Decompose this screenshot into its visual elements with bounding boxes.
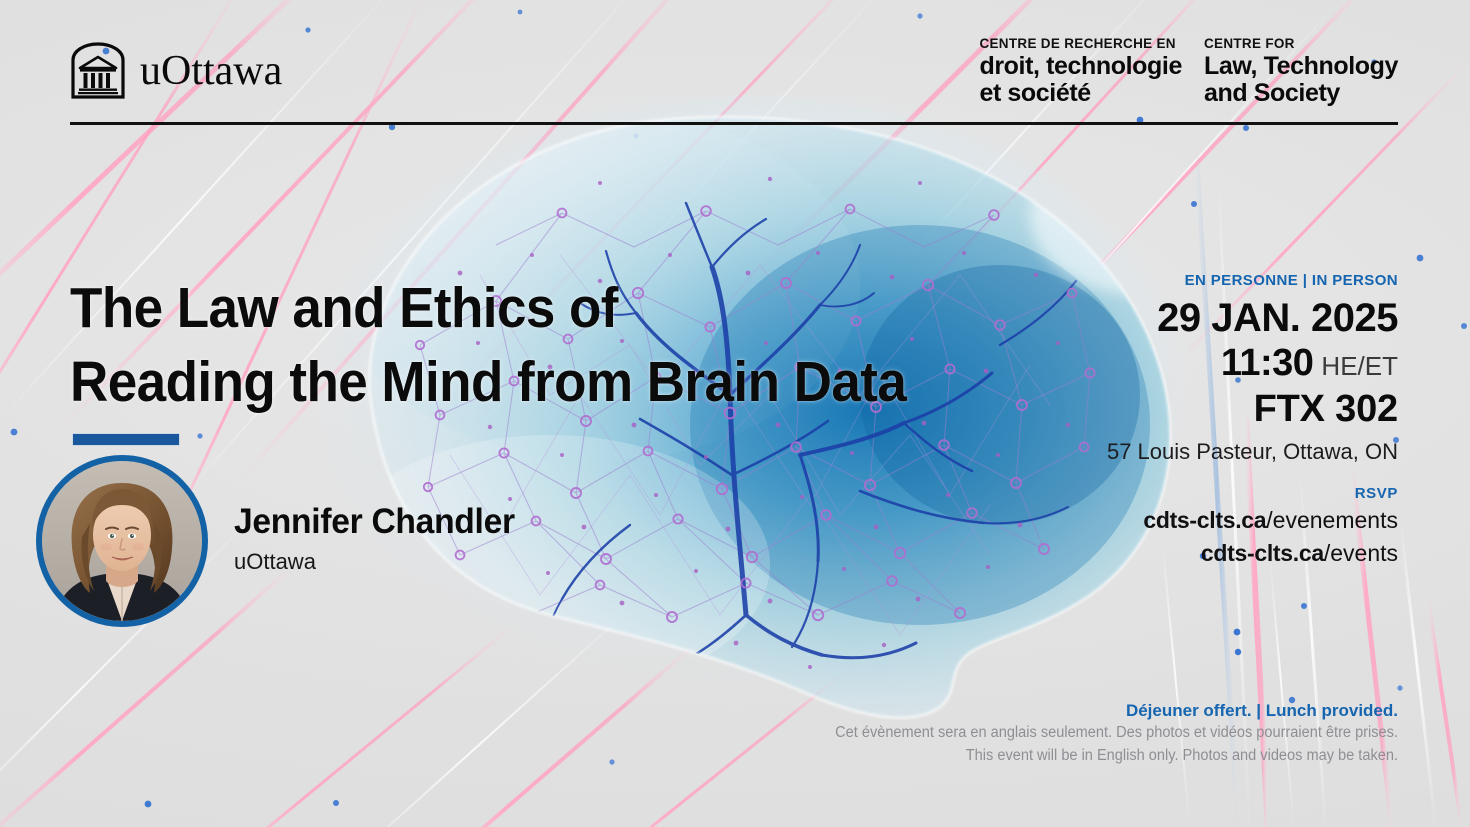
centre-en: CENTRE FOR Law, Technology and Society	[1204, 36, 1398, 106]
centre-en-name-line1: Law, Technology	[1204, 53, 1398, 79]
speaker-photo	[42, 461, 202, 621]
uottawa-crest-icon	[70, 42, 126, 100]
speaker-avatar	[36, 455, 208, 627]
language-note-fr: Cet évènement sera en anglais seulement.…	[740, 722, 1398, 744]
language-note-en: This event will be in English only. Phot…	[740, 745, 1398, 767]
rsvp-en-domain: cdts-clts.ca	[1201, 540, 1324, 566]
poster-header: uOttawa CENTRE DE RECHERCHE EN droit, te…	[70, 36, 1398, 126]
rsvp-fr-domain: cdts-clts.ca	[1143, 507, 1266, 533]
title-underline-bar	[72, 433, 180, 446]
event-time: 11:30	[1221, 342, 1314, 384]
rsvp-fr-path: /evenements	[1266, 507, 1398, 533]
event-mode-badge: EN PERSONNE | IN PERSON	[958, 272, 1398, 290]
event-date: 29 JAN. 2025	[958, 295, 1398, 341]
rsvp-label: RSVP	[958, 485, 1398, 503]
rsvp-link-fr[interactable]: cdts-clts.ca/evenements	[958, 505, 1398, 536]
rsvp-en-path: /events	[1324, 540, 1398, 566]
centre-branding: CENTRE DE RECHERCHE EN droit, technologi…	[979, 36, 1398, 106]
centre-fr: CENTRE DE RECHERCHE EN droit, technologi…	[979, 36, 1182, 106]
event-address: 57 Louis Pasteur, Ottawa, ON	[958, 438, 1398, 467]
title-line-2: Reading the Mind from Brain Data	[70, 346, 1000, 420]
footer-notes: Déjeuner offert. | Lunch provided. Cet é…	[698, 700, 1398, 767]
event-time-row: 11:30HE/ET	[958, 343, 1398, 385]
centre-fr-name-line1: droit, technologie	[979, 53, 1182, 79]
event-poster: uOttawa CENTRE DE RECHERCHE EN droit, te…	[0, 0, 1470, 827]
centre-en-name-line2: and Society	[1204, 80, 1398, 106]
centre-fr-name-line2: et société	[979, 80, 1182, 106]
event-title: The Law and Ethics of Reading the Mind f…	[70, 272, 1070, 446]
centre-en-kicker: CENTRE FOR	[1204, 36, 1398, 52]
uottawa-logo: uOttawa	[70, 42, 282, 100]
event-timezone: HE/ET	[1321, 351, 1398, 381]
rsvp-link-en[interactable]: cdts-clts.ca/events	[958, 538, 1398, 569]
header-divider	[70, 122, 1398, 125]
centre-fr-kicker: CENTRE DE RECHERCHE EN	[979, 36, 1182, 52]
lunch-note: Déjeuner offert. | Lunch provided.	[698, 700, 1398, 722]
speaker-block: Jennifer Chandler uOttawa	[36, 455, 526, 627]
event-details: EN PERSONNE | IN PERSON 29 JAN. 2025 11:…	[958, 272, 1398, 466]
uottawa-wordmark: uOttawa	[140, 50, 282, 92]
speaker-info: Jennifer Chandler uOttawa	[234, 503, 526, 578]
rsvp-block: RSVP cdts-clts.ca/evenements cdts-clts.c…	[958, 485, 1398, 569]
event-room: FTX 302	[958, 387, 1398, 432]
speaker-affiliation: uOttawa	[234, 548, 526, 577]
title-line-1: The Law and Ethics of	[70, 272, 1000, 346]
speaker-name: Jennifer Chandler	[234, 503, 515, 542]
